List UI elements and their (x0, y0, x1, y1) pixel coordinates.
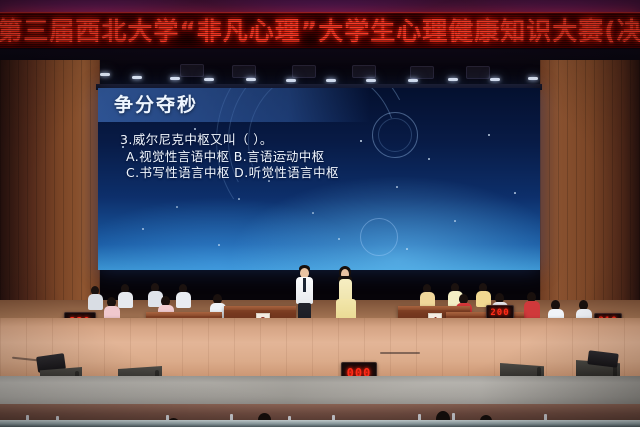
audience-rail (0, 420, 640, 427)
slide-section-title: 争分夺秒 (114, 92, 198, 118)
question-text: 3.威尔尼克中枢又叫（ ）。 (120, 132, 520, 149)
scoreboard-right-1-digits: 200 (490, 308, 509, 318)
stage-photograph: 第三届西北大学“非凡心理”大学生心理健康知识大赛(决 (0, 0, 640, 427)
led-banner: 第三届西北大学“非凡心理”大学生心理健康知识大赛(决 (0, 12, 640, 50)
truss-lamp (448, 78, 458, 81)
option-line-1: A.视觉性言语中枢 B.言语运动中枢 (120, 149, 520, 166)
led-banner-text: 第三届西北大学“非凡心理”大学生心理健康知识大赛(决 (0, 19, 640, 44)
stage-floor (0, 318, 640, 380)
truss-lamp (326, 79, 336, 82)
truss-lamp (132, 76, 142, 79)
truss-lamp (408, 79, 418, 82)
truss-lamp (286, 79, 296, 82)
truss-lamp (170, 77, 180, 80)
truss-lamp (366, 79, 376, 82)
truss-lamp (246, 78, 256, 81)
stage-cable (380, 352, 420, 354)
truss-lamp (528, 77, 538, 80)
slide-question-block: 3.威尔尼克中枢又叫（ ）。 A.视觉性言语中枢 B.言语运动中枢 C.书写性语… (120, 132, 520, 182)
truss-lamp (204, 78, 214, 81)
truss-lamp (490, 78, 500, 81)
audience-row (0, 404, 640, 427)
truss-lamp (100, 73, 110, 76)
projection-screen: 争分夺秒 3.威尔尼克中枢又叫（ ）。 A.视觉性言语中枢 B.言语运动中枢 C… (98, 88, 540, 270)
option-line-2: C.书写性语言中枢 D.听觉性语言中枢 (120, 165, 520, 182)
